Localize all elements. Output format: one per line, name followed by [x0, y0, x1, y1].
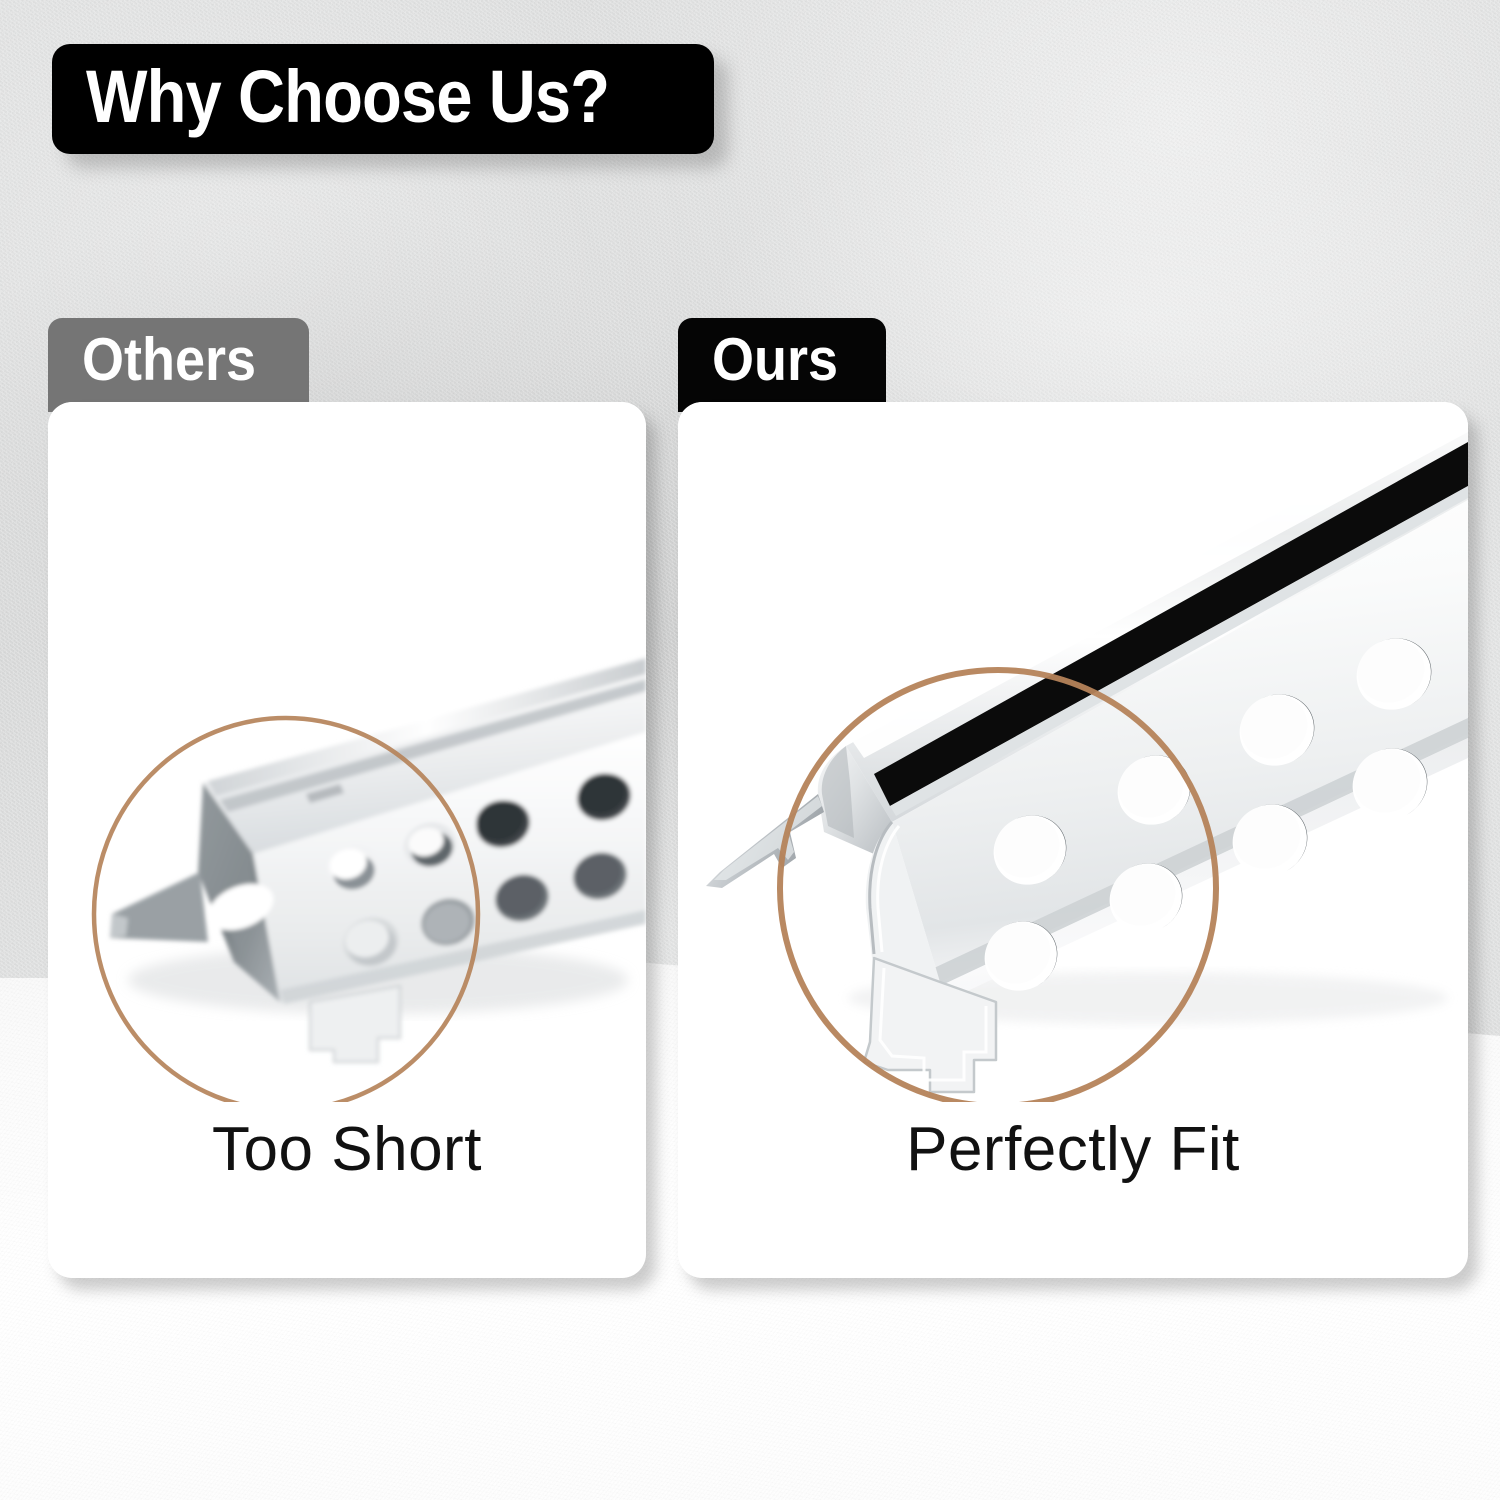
product-photo-others — [48, 402, 646, 1102]
card-others: Too Short — [48, 402, 646, 1278]
heat-plate-long-illustration — [678, 402, 1468, 1102]
page-title: Why Choose Us? — [86, 60, 609, 134]
badge-others: Others — [48, 318, 309, 412]
badge-ours-label: Ours — [712, 330, 838, 390]
comparison-panel-ours: Ours — [678, 318, 1468, 1280]
caption-others: Too Short — [48, 1114, 646, 1185]
badge-ours: Ours — [678, 318, 886, 412]
caption-ours: Perfectly Fit — [678, 1114, 1468, 1185]
heat-plate-short-illustration — [48, 402, 646, 1102]
comparison-panel-others: Others — [48, 318, 648, 1280]
page-title-badge: Why Choose Us? — [52, 44, 714, 154]
infographic-canvas: Why Choose Us? Others — [0, 0, 1500, 1500]
card-ours: Perfectly Fit — [678, 402, 1468, 1278]
badge-others-label: Others — [82, 330, 256, 390]
product-photo-ours — [678, 402, 1468, 1102]
